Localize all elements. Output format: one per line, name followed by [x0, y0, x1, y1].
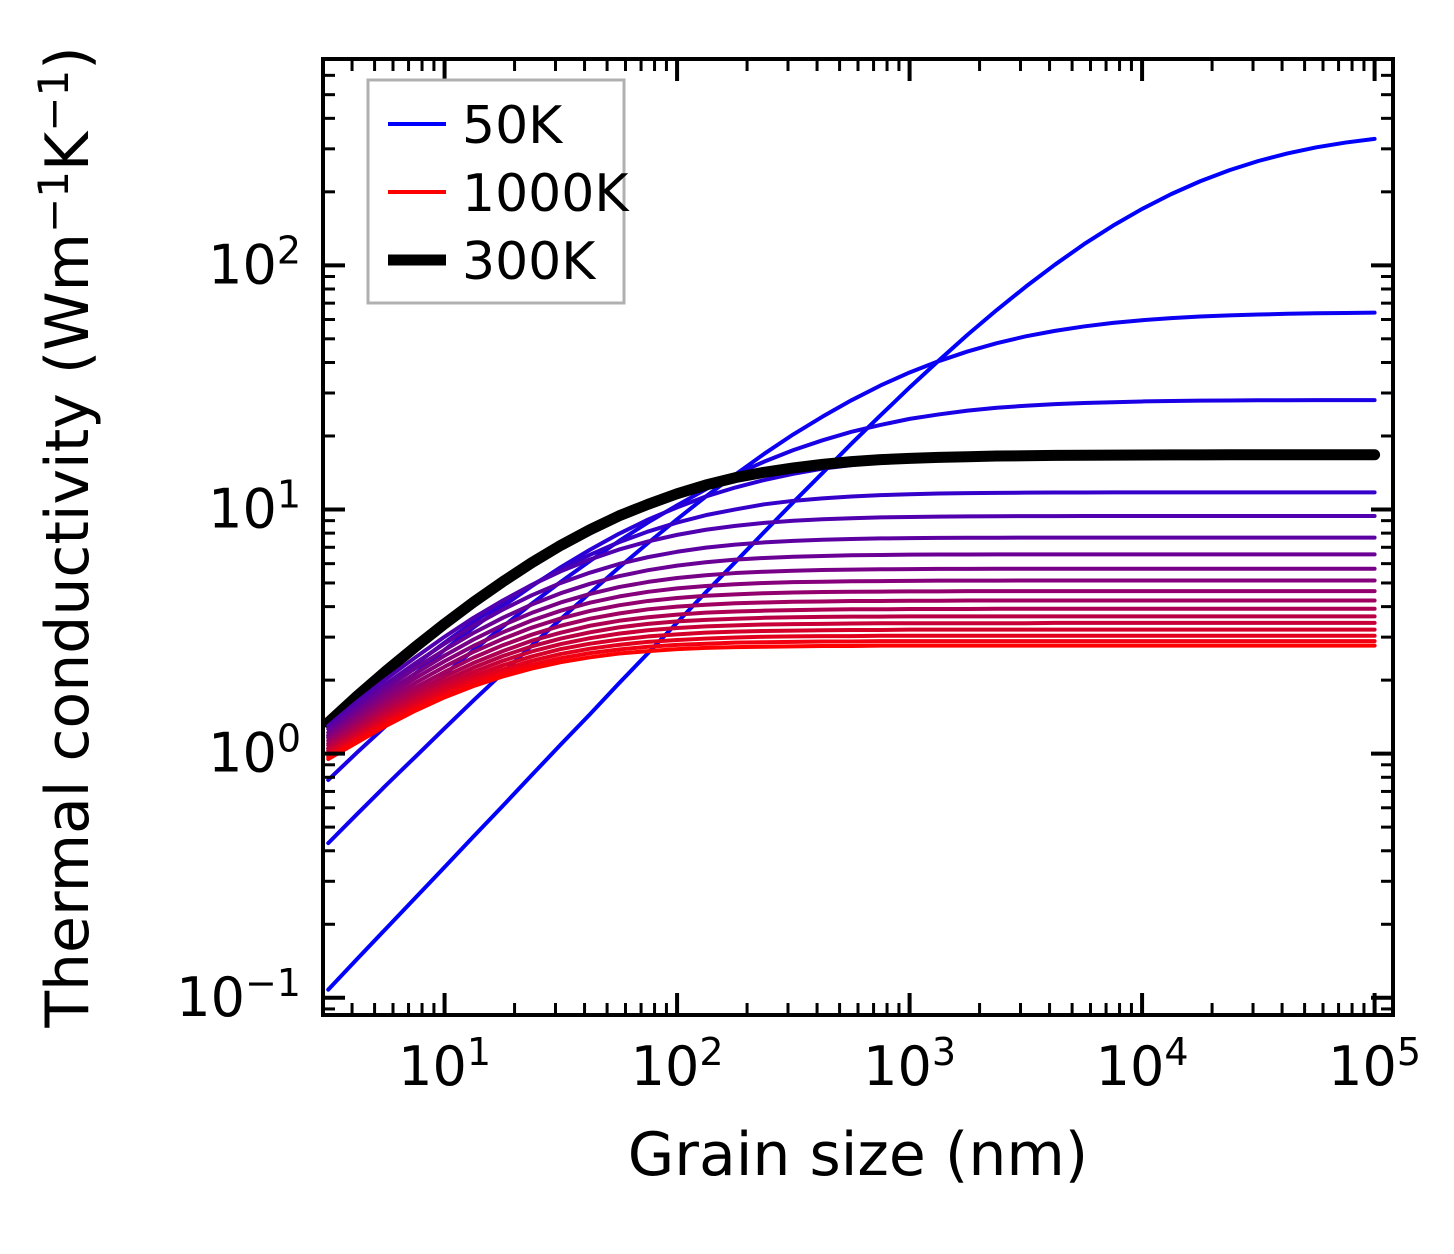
y-axis-label-mid: K [33, 130, 103, 171]
x-tick-label: 104 [1096, 1030, 1189, 1098]
x-tick-mantissa: 10 [1328, 1035, 1397, 1098]
legend-label-50k: 50K [462, 96, 564, 156]
svg-text:Thermal conductivity (Wm−1K−1): Thermal conductivity (Wm−1K−1) [29, 46, 103, 1028]
x-tick-exponent: 4 [1164, 1030, 1188, 1074]
y-tick-mantissa: 10 [208, 722, 277, 785]
y-tick-exponent: 2 [277, 228, 301, 272]
y-tick-exponent: 1 [277, 472, 301, 516]
x-tick-mantissa: 10 [398, 1035, 467, 1098]
curve-100k [328, 313, 1374, 843]
x-tick-label: 101 [398, 1030, 491, 1098]
y-tick-label: 102 [208, 228, 301, 296]
y-tick-mantissa: 10 [208, 477, 277, 540]
x-tick-exponent: 2 [699, 1030, 723, 1074]
y-tick-mantissa: 10 [208, 233, 277, 296]
curve-250k [328, 492, 1374, 736]
y-axis-label-exp2: −1 [29, 70, 78, 132]
y-axis-label-prefix: Thermal conductivity (Wm [33, 233, 103, 1029]
x-tick-mantissa: 10 [1096, 1035, 1165, 1098]
y-axis-label-exp1: −1 [29, 171, 78, 233]
y-tick-exponent: 0 [277, 717, 301, 761]
legend-label-300k: 300K [462, 232, 597, 292]
x-tick-label: 105 [1328, 1030, 1421, 1098]
y-tick-mantissa: 10 [176, 966, 245, 1029]
y-tick-exponent: −1 [245, 961, 301, 1005]
x-tick-exponent: 3 [932, 1030, 956, 1074]
x-tick-label: 102 [631, 1030, 724, 1098]
y-tick-label: 101 [208, 472, 301, 540]
legend[interactable]: 50K1000K300K [368, 80, 630, 303]
x-tick-mantissa: 10 [863, 1035, 932, 1098]
thermal-conductivity-log-log-chart: 101102103104105 10−1100101102 Grain size… [0, 0, 1454, 1254]
y-tick-labels: 10−1100101102 [176, 228, 301, 1028]
y-axis-label: Thermal conductivity (Wm−1K−1) [29, 46, 103, 1028]
figure-canvas: 101102103104105 10−1100101102 Grain size… [0, 0, 1454, 1254]
legend-label-1000k: 1000K [462, 164, 630, 224]
x-tick-exponent: 5 [1397, 1030, 1421, 1074]
y-axis-label-suffix: ) [33, 46, 103, 69]
x-tick-label: 103 [863, 1030, 956, 1098]
y-tick-label: 10−1 [176, 961, 301, 1029]
x-tick-mantissa: 10 [631, 1035, 700, 1098]
x-axis-label: Grain size (nm) [628, 1120, 1088, 1190]
y-tick-label: 100 [208, 717, 301, 785]
x-tick-exponent: 1 [467, 1030, 491, 1074]
x-tick-labels: 101102103104105 [398, 1030, 1421, 1098]
